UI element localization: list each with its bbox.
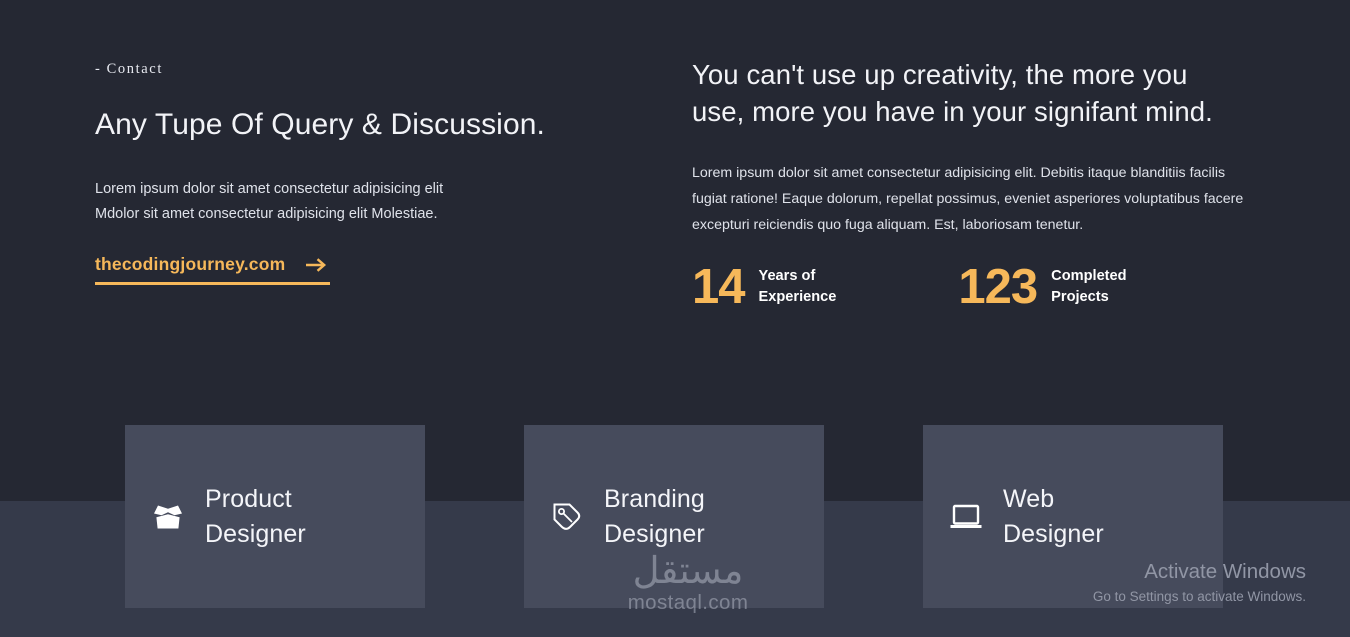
arrow-right-icon bbox=[305, 257, 327, 273]
contact-column: - Contact Any Tupe Of Query & Discussion… bbox=[95, 0, 565, 285]
contact-description: Lorem ipsum dolor sit amet consectetur a… bbox=[95, 177, 447, 229]
stat-item: 14 Years of Experience bbox=[692, 264, 836, 311]
service-card-product-designer[interactable]: Product Designer bbox=[125, 425, 425, 608]
page-title: Any Tupe Of Query & Discussion. bbox=[95, 107, 565, 144]
service-card-title: Branding Designer bbox=[604, 482, 705, 551]
service-card-branding-designer[interactable]: Branding Designer bbox=[524, 425, 824, 608]
quote-text: You can't use up creativity, the more yo… bbox=[692, 57, 1244, 130]
stat-label: Completed Projects bbox=[1051, 266, 1126, 307]
stat-label: Years of Experience bbox=[759, 266, 837, 307]
quote-column: You can't use up creativity, the more yo… bbox=[692, 0, 1244, 310]
quote-description: Lorem ipsum dolor sit amet consectetur a… bbox=[692, 161, 1244, 239]
laptop-icon bbox=[948, 499, 984, 535]
open-box-icon bbox=[150, 499, 186, 535]
stat-value: 123 bbox=[958, 264, 1037, 311]
website-link[interactable]: thecodingjourney.com bbox=[95, 254, 330, 285]
service-card-web-designer[interactable]: Web Designer bbox=[923, 425, 1223, 608]
stat-value: 14 bbox=[692, 264, 745, 311]
section-eyebrow-label: - Contact bbox=[95, 61, 565, 78]
service-card-title: Web Designer bbox=[1003, 482, 1104, 551]
pen-nib-icon bbox=[549, 499, 585, 535]
stats-group: 14 Years of Experience 123 Completed Pro… bbox=[692, 264, 1244, 311]
service-cards: Product Designer Branding Designer Web D… bbox=[125, 425, 1223, 608]
main-content: - Contact Any Tupe Of Query & Discussion… bbox=[0, 0, 1350, 420]
service-card-title: Product Designer bbox=[205, 482, 306, 551]
website-link-label: thecodingjourney.com bbox=[95, 254, 285, 275]
stat-item: 123 Completed Projects bbox=[958, 264, 1126, 311]
